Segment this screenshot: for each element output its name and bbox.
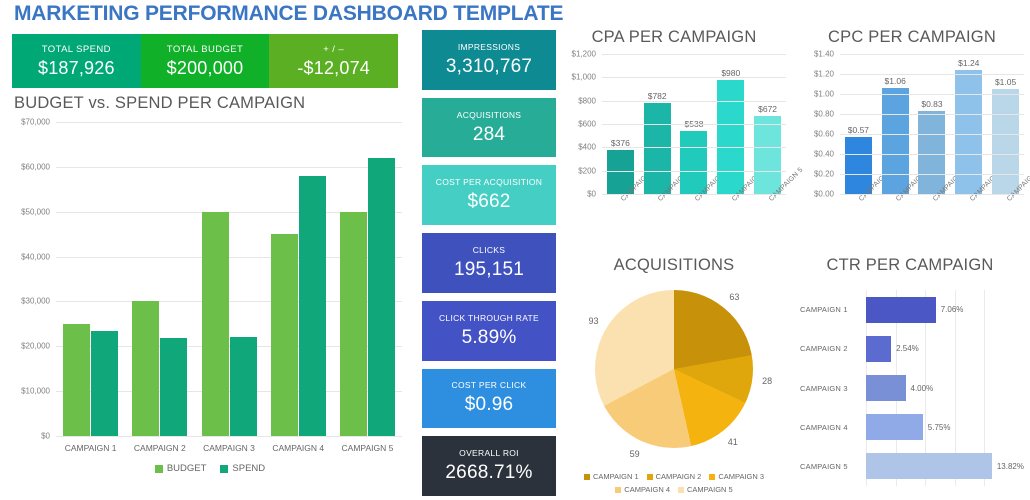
gridline (840, 194, 1024, 195)
legend-swatch (220, 465, 228, 473)
legend-label: CAMPAIGN 2 (656, 472, 702, 481)
bar-group: CAMPAIGN 1 (56, 122, 125, 436)
y-axis-tick: $0.40 (814, 150, 834, 159)
gridline (56, 436, 402, 437)
pie-slice-label: 63 (729, 292, 739, 302)
page-title: MARKETING PERFORMANCE DASHBOARD TEMPLATE (14, 1, 614, 27)
legend-swatch (647, 474, 653, 480)
legend-item[interactable]: CAMPAIGN 3 (709, 472, 764, 481)
kpi-column: IMPRESSIONS 3,310,767 ACQUISITIONS 284 C… (422, 30, 556, 496)
y-axis-tick: $0.20 (814, 170, 834, 179)
kpi-label: COST PER ACQUISITION (436, 177, 542, 187)
bar-value-label: $672 (758, 104, 777, 114)
bar-group: CAMPAIGN 4 (264, 122, 333, 436)
kpi-value: $662 (467, 191, 510, 213)
bar[interactable] (299, 176, 326, 436)
chart-cpc-per-campaign: CPC PER CAMPAIGN $0.57CAMPAIGN 1$1.06CAM… (794, 28, 1030, 256)
y-axis-tick: $400 (578, 143, 596, 152)
y-axis-tick: $800 (578, 96, 596, 105)
y-axis-tick: $0.60 (814, 130, 834, 139)
kpi-value: 5.89% (462, 327, 517, 349)
bar[interactable] (230, 337, 257, 436)
bar-row: CAMPAIGN 34.00% (800, 368, 1024, 407)
chart-budget-vs-spend: BUDGET vs. SPEND PER CAMPAIGN $0$10,000$… (8, 94, 412, 496)
gridline (602, 147, 786, 148)
bar[interactable]: $0.83 (918, 111, 945, 194)
bar-wrapper: 13.82% (866, 453, 1024, 479)
summary-tile-variance[interactable]: + / – -$12,074 (269, 34, 398, 88)
bar-value-label: $1.05 (995, 77, 1016, 87)
legend-label: SPEND (232, 463, 265, 474)
bar-value-label: 5.75% (928, 423, 951, 432)
bar-column: $0.83CAMPAIGN 3 (914, 54, 951, 194)
legend-swatch (584, 474, 590, 480)
bar[interactable] (132, 301, 159, 436)
bar-row: CAMPAIGN 22.54% (800, 329, 1024, 368)
bar-value-label: 4.00% (911, 384, 934, 393)
legend-label: CAMPAIGN 1 (593, 472, 639, 481)
pie-wrapper: 6328415993 (595, 290, 753, 448)
kpi-label: CLICKS (473, 245, 506, 255)
bar-wrapper: 2.54% (866, 336, 1024, 362)
bar[interactable] (866, 453, 992, 479)
plot-area: $0.57CAMPAIGN 1$1.06CAMPAIGN 2$0.83CAMPA… (840, 54, 1024, 194)
bar-value-label: $1.24 (958, 58, 979, 68)
y-axis-label: CAMPAIGN 1 (800, 305, 866, 314)
bar-rows: CAMPAIGN 17.06%CAMPAIGN 22.54%CAMPAIGN 3… (800, 290, 1024, 486)
bar[interactable] (202, 212, 229, 436)
summary-tile-total-budget[interactable]: TOTAL BUDGET $200,000 (141, 34, 270, 88)
chart-title: BUDGET vs. SPEND PER CAMPAIGN (14, 94, 305, 113)
y-axis-tick: $1.00 (814, 90, 834, 99)
y-axis-label: CAMPAIGN 4 (800, 423, 866, 432)
bar[interactable]: $980 (717, 80, 744, 194)
bar-wrapper: 5.75% (866, 414, 1024, 440)
kpi-label: OVERALL ROI (459, 448, 519, 458)
chart-legend: BUDGETSPEND (8, 463, 412, 474)
y-axis-label: CAMPAIGN 5 (800, 462, 866, 471)
legend-swatch (615, 487, 621, 493)
kpi-cost-per-acquisition[interactable]: COST PER ACQUISITION $662 (422, 165, 556, 225)
y-axis-tick: $10,000 (21, 387, 50, 396)
kpi-impressions[interactable]: IMPRESSIONS 3,310,767 (422, 30, 556, 90)
y-axis-tick: $1,200 (572, 50, 596, 59)
bar[interactable]: $538 (680, 131, 707, 194)
gridline (602, 54, 786, 55)
chart-legend: CAMPAIGN 1CAMPAIGN 2CAMPAIGN 3CAMPAIGN 4… (556, 472, 792, 494)
legend-item[interactable]: BUDGET (155, 463, 207, 474)
gridline (840, 134, 1024, 135)
bar[interactable]: $1.06 (882, 88, 909, 194)
summary-tile-total-spend[interactable]: TOTAL SPEND $187,926 (12, 34, 141, 88)
tile-label: TOTAL BUDGET (167, 44, 243, 55)
gridline (602, 124, 786, 125)
y-axis-tick: $0.80 (814, 110, 834, 119)
x-axis-label: CAMPAIGN 4 (264, 443, 333, 453)
legend-item[interactable]: CAMPAIGN 5 (678, 485, 733, 494)
plot-area: CAMPAIGN 17.06%CAMPAIGN 22.54%CAMPAIGN 3… (800, 290, 1024, 486)
tile-value: -$12,074 (297, 58, 370, 79)
gridline (840, 154, 1024, 155)
bar[interactable] (271, 234, 298, 436)
chart-ctr-per-campaign: CTR PER CAMPAIGN CAMPAIGN 17.06%CAMPAIGN… (790, 256, 1030, 500)
y-axis-tick: $60,000 (21, 162, 50, 171)
bar-row: CAMPAIGN 513.82% (800, 447, 1024, 486)
pie-graphic[interactable] (595, 290, 753, 448)
kpi-acquisitions[interactable]: ACQUISITIONS 284 (422, 98, 556, 158)
bar-wrapper: 7.06% (866, 297, 1024, 323)
kpi-value: $0.96 (465, 394, 514, 416)
bar[interactable]: $0.57 (845, 137, 872, 194)
kpi-label: ACQUISITIONS (457, 110, 522, 120)
bar-row: CAMPAIGN 45.75% (800, 408, 1024, 447)
gridline (602, 77, 786, 78)
chart-title: ACQUISITIONS (556, 256, 792, 275)
bar-column: $1.06CAMPAIGN 2 (877, 54, 914, 194)
chart-title: CPC PER CAMPAIGN (794, 28, 1030, 47)
kpi-value: 284 (473, 124, 505, 146)
kpi-clicks[interactable]: CLICKS 195,151 (422, 233, 556, 293)
bar-row: CAMPAIGN 17.06% (800, 290, 1024, 329)
legend-label: BUDGET (167, 463, 207, 474)
bar[interactable]: $782 (644, 103, 671, 194)
bar-value-label: $1.06 (885, 76, 906, 86)
gridline (840, 94, 1024, 95)
chart-title: CTR PER CAMPAIGN (790, 256, 1030, 275)
bar-column: $0.57CAMPAIGN 1 (840, 54, 877, 194)
tile-label: + / – (323, 44, 344, 55)
kpi-label: CLICK THROUGH RATE (439, 313, 539, 323)
bar[interactable] (866, 297, 936, 323)
legend-item[interactable]: SPEND (220, 463, 265, 474)
y-axis-tick: $0 (587, 190, 596, 199)
bar-value-label: $782 (648, 91, 667, 101)
tile-value: $200,000 (167, 58, 244, 79)
bar-groups: $0.57CAMPAIGN 1$1.06CAMPAIGN 2$0.83CAMPA… (840, 54, 1024, 194)
summary-tiles: TOTAL SPEND $187,926 TOTAL BUDGET $200,0… (12, 34, 398, 88)
y-axis-tick: $40,000 (21, 252, 50, 261)
legend-label: CAMPAIGN 4 (624, 485, 670, 494)
chart-acquisitions-pie: ACQUISITIONS 6328415993 CAMPAIGN 1CAMPAI… (556, 256, 792, 500)
bar[interactable]: $1.24 (955, 70, 982, 194)
bar[interactable]: $1.05 (992, 89, 1019, 194)
bar-group: CAMPAIGN 2 (125, 122, 194, 436)
bar[interactable]: $672 (754, 116, 781, 194)
bar[interactable] (368, 158, 395, 436)
tile-value: $187,926 (38, 58, 115, 79)
bar-group: CAMPAIGN 5 (333, 122, 402, 436)
bar[interactable] (866, 414, 923, 440)
legend-item[interactable]: CAMPAIGN 2 (647, 472, 702, 481)
legend-swatch (155, 465, 163, 473)
pie-slice-label: 28 (762, 376, 772, 386)
bar-value-label: $980 (721, 68, 740, 78)
legend-label: CAMPAIGN 5 (687, 485, 733, 494)
legend-item[interactable]: CAMPAIGN 4 (615, 485, 670, 494)
legend-item[interactable]: CAMPAIGN 1 (584, 472, 639, 481)
plot-area: $0$10,000$20,000$30,000$40,000$50,000$60… (56, 122, 402, 436)
gridline (840, 174, 1024, 175)
y-axis-tick: $600 (578, 120, 596, 129)
bar[interactable] (340, 212, 367, 436)
bar-value-label: $0.83 (921, 99, 942, 109)
y-axis-tick: $50,000 (21, 207, 50, 216)
bar-wrapper: 4.00% (866, 375, 1024, 401)
bar-value-label: 13.82% (997, 462, 1024, 471)
bar-column: $1.24CAMPAIGN 4 (950, 54, 987, 194)
legend-label: CAMPAIGN 3 (718, 472, 764, 481)
plot-area: $376CAMPAIGN 1$782CAMPAIGN 2$538CAMPAIGN… (602, 54, 786, 194)
pie-slice-label: 41 (728, 437, 738, 447)
y-axis-tick: $70,000 (21, 118, 50, 127)
legend-swatch (678, 487, 684, 493)
bar[interactable] (866, 336, 891, 362)
dashboard-root: MARKETING PERFORMANCE DASHBOARD TEMPLATE… (0, 0, 1030, 500)
y-axis-label: CAMPAIGN 2 (800, 344, 866, 353)
bar-value-label: 2.54% (896, 344, 919, 353)
x-axis-label: CAMPAIGN 2 (125, 443, 194, 453)
y-axis-label: CAMPAIGN 3 (800, 384, 866, 393)
gridline (840, 54, 1024, 55)
y-axis-tick: $1.20 (814, 70, 834, 79)
x-axis-label: CAMPAIGN 1 (56, 443, 125, 453)
gridline (602, 171, 786, 172)
bar[interactable] (91, 331, 118, 436)
bar[interactable] (866, 375, 906, 401)
kpi-cost-per-click[interactable]: COST PER CLICK $0.96 (422, 369, 556, 429)
kpi-value: 2668.71% (445, 462, 532, 484)
bar-column: $1.05CAMPAIGN 5 (987, 54, 1024, 194)
bar-group: CAMPAIGN 3 (194, 122, 263, 436)
y-axis-tick: $0.00 (814, 190, 834, 199)
tile-label: TOTAL SPEND (42, 44, 111, 55)
y-axis-tick: $1.40 (814, 50, 834, 59)
legend-swatch (709, 474, 715, 480)
bar[interactable] (63, 324, 90, 436)
gridline (840, 74, 1024, 75)
pie-slice-label: 93 (588, 316, 598, 326)
chart-cpa-per-campaign: CPA PER CAMPAIGN $376CAMPAIGN 1$782CAMPA… (556, 28, 792, 256)
kpi-overall-roi[interactable]: OVERALL ROI 2668.71% (422, 436, 556, 496)
bar[interactable] (160, 338, 187, 436)
x-axis-label: CAMPAIGN 3 (194, 443, 263, 453)
gridline (602, 101, 786, 102)
gridline (840, 114, 1024, 115)
y-axis-tick: $0 (41, 432, 50, 441)
x-axis-label: CAMPAIGN 5 (333, 443, 402, 453)
gridline (602, 194, 786, 195)
kpi-click-through-rate[interactable]: CLICK THROUGH RATE 5.89% (422, 301, 556, 361)
y-axis-tick: $30,000 (21, 297, 50, 306)
bar-groups: CAMPAIGN 1CAMPAIGN 2CAMPAIGN 3CAMPAIGN 4… (56, 122, 402, 436)
chart-title: CPA PER CAMPAIGN (556, 28, 792, 47)
bar-value-label: 7.06% (941, 305, 964, 314)
kpi-value: 3,310,767 (446, 56, 532, 78)
pie-slice-label: 59 (630, 449, 640, 459)
kpi-label: IMPRESSIONS (458, 42, 520, 52)
kpi-value: 195,151 (454, 259, 524, 281)
y-axis-tick: $20,000 (21, 342, 50, 351)
y-axis-tick: $200 (578, 166, 596, 175)
y-axis-tick: $1,000 (572, 73, 596, 82)
kpi-label: COST PER CLICK (452, 380, 527, 390)
